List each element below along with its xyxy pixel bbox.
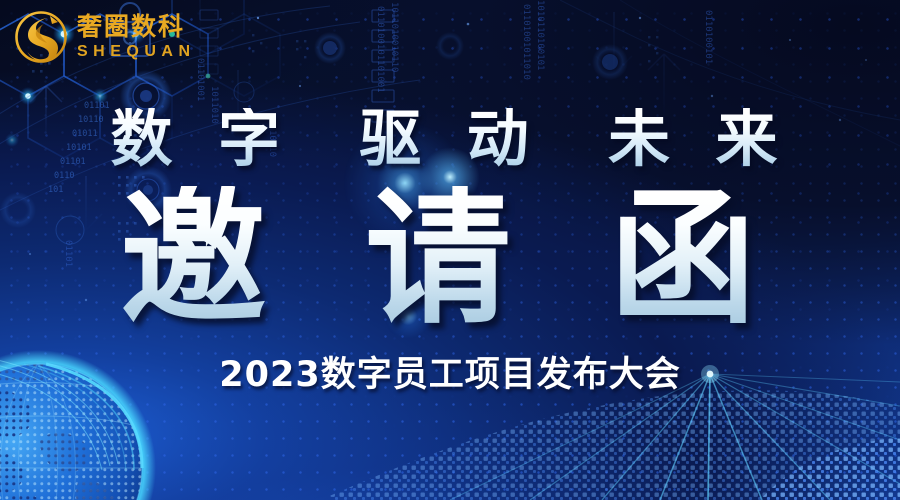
page-title: 邀 请 函 bbox=[0, 186, 900, 332]
svg-text:0110100101101001: 0110100101101001 bbox=[375, 6, 385, 93]
svg-text:01101001011010: 01101001011010 bbox=[521, 4, 531, 80]
brand-name-en: SHEQUAN bbox=[77, 44, 196, 60]
headline: 数 字 驱 动 未 来 bbox=[0, 108, 900, 170]
brand-name-cn: 奢圈数科 bbox=[77, 14, 196, 39]
event-subtitle: 2023数字员工项目发布大会 bbox=[0, 356, 900, 395]
brand-logo-text: 奢圈数科 SHEQUAN bbox=[77, 14, 196, 60]
svg-text:0110100101: 0110100101 bbox=[703, 10, 713, 64]
shequan-ribbon-emblem-icon bbox=[14, 10, 68, 64]
svg-text:1010110100101: 1010110100101 bbox=[535, 0, 545, 70]
invitation-poster: 01101 10110 01011 10101 01101 0110 101 0… bbox=[0, 0, 900, 500]
brand-logo[interactable]: 奢圈数科 SHEQUAN bbox=[14, 10, 196, 64]
